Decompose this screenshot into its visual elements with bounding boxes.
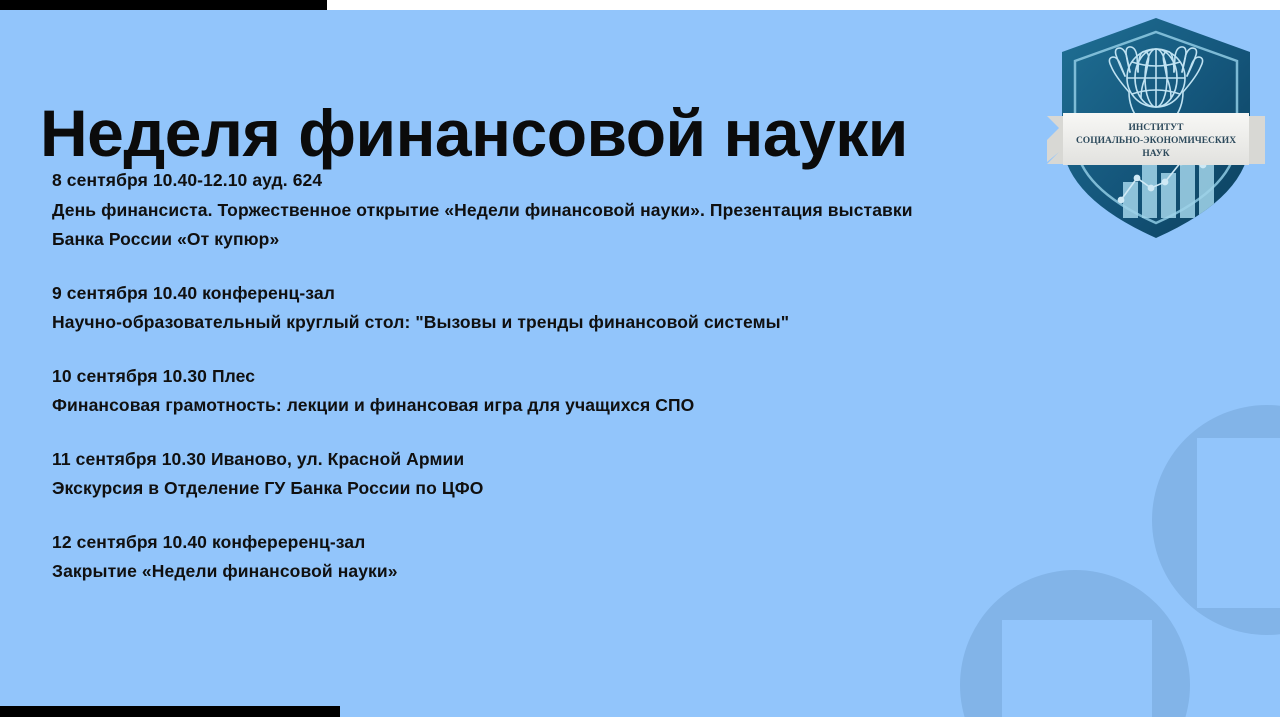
agenda-item-sep-8: 8 сентября 10.40-12.10 ауд. 624 День фин…: [52, 166, 1012, 255]
event-datetime-venue: 10 сентября 10.30 Плес: [52, 362, 1012, 392]
event-description-line-1: Финансовая грамотность: лекции и финансо…: [52, 391, 1012, 421]
top-right-white-bar: [327, 0, 1280, 10]
ribbon-line-2: СОЦИАЛЬНО-ЭКОНОМИЧЕСКИХ: [1076, 136, 1236, 146]
ribbon-line-1: ИНСТИТУТ: [1128, 123, 1184, 133]
bottom-left-black-bar: [0, 706, 340, 717]
event-description-line-2: Банка России «От купюр»: [52, 225, 1012, 255]
event-datetime-venue: 11 сентября 10.30 Иваново, ул. Красной А…: [52, 445, 1012, 475]
agenda-list: 8 сентября 10.40-12.10 ауд. 624 День фин…: [52, 166, 1012, 587]
agenda-item-sep-12: 12 сентября 10.40 конфереренц-зал Закрыт…: [52, 528, 1012, 587]
agenda-item-sep-10: 10 сентября 10.30 Плес Финансовая грамот…: [52, 362, 1012, 421]
event-description-line-1: Экскурсия в Отделение ГУ Банка России по…: [52, 474, 1012, 504]
event-datetime-venue: 12 сентября 10.40 конфереренц-зал: [52, 528, 1012, 558]
globe-icon: [1127, 49, 1185, 107]
event-datetime-venue: 8 сентября 10.40-12.10 ауд. 624: [52, 166, 1012, 196]
event-datetime-venue: 9 сентября 10.40 конференц-зал: [52, 279, 1012, 309]
decorative-ring-lower-hole: [1002, 620, 1152, 717]
event-description-line-1: Научно-образовательный круглый стол: "Вы…: [52, 308, 1012, 338]
event-description-line-1: День финансиста. Торжественное открытие …: [52, 196, 1012, 226]
decorative-ring-upper-hole: [1197, 438, 1280, 608]
agenda-item-sep-11: 11 сентября 10.30 Иваново, ул. Красной А…: [52, 445, 1012, 504]
page-title: Неделя финансовой науки: [40, 100, 908, 166]
event-description-line-1: Закрытие «Недели финансовой науки»: [52, 557, 1012, 587]
ribbon-line-3: НАУК: [1142, 149, 1169, 159]
institute-shield-logo: ИНСТИТУТ СОЦИАЛЬНО-ЭКОНОМИЧЕСКИХ НАУК: [1041, 10, 1271, 250]
presentation-slide: Неделя финансовой науки 8 сентября 10.40…: [0, 0, 1280, 717]
agenda-item-sep-9: 9 сентября 10.40 конференц-зал Научно-об…: [52, 279, 1012, 338]
top-left-black-bar: [0, 0, 327, 10]
